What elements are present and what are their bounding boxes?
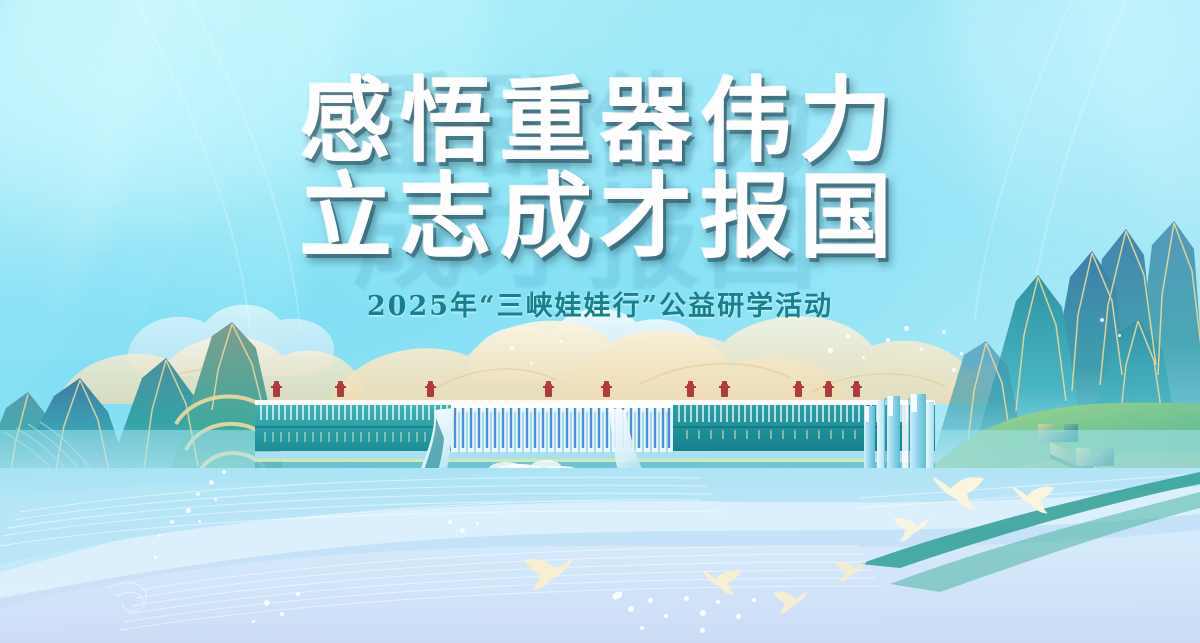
swallow-bird-icon <box>832 556 868 584</box>
poster-canvas: 重器伟力 成才报国 <box>0 0 1200 643</box>
bubble-group <box>0 0 1200 643</box>
swallow-bird-icon <box>890 512 932 544</box>
swallow-bird-icon <box>520 552 576 592</box>
swallow-bird-icon <box>770 586 810 616</box>
swallow-bird-icon <box>1010 480 1058 516</box>
swallow-bird-icon <box>930 470 988 512</box>
swallow-bird-icon <box>700 564 744 598</box>
